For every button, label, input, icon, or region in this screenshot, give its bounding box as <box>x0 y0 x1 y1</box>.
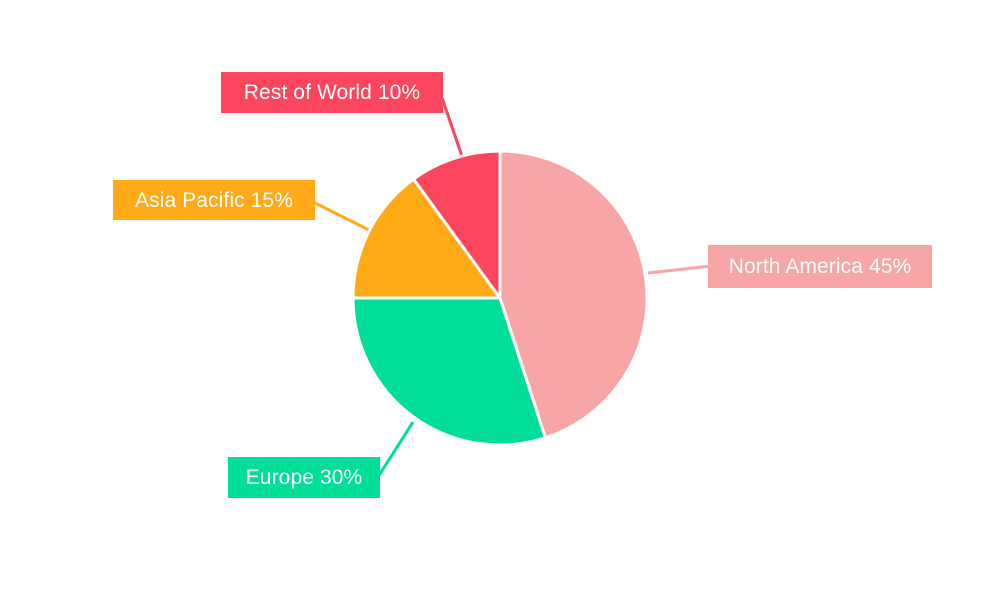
pie-label-north-america[interactable]: North America 45% <box>708 245 932 288</box>
pie-label-europe[interactable]: Europe 30% <box>228 457 380 498</box>
pie-chart-svg <box>0 0 1000 600</box>
leader-line-north-america <box>648 266 711 273</box>
pie-chart-canvas: North America 45%Europe 30%Asia Pacific … <box>0 0 1000 600</box>
pie-label-asia-pacific[interactable]: Asia Pacific 15% <box>113 180 315 220</box>
pie-slice-group <box>353 151 647 445</box>
leader-line-asia-pacific <box>313 202 371 231</box>
leader-line-europe <box>378 422 413 477</box>
pie-label-rest-of-world[interactable]: Rest of World 10% <box>221 72 443 113</box>
